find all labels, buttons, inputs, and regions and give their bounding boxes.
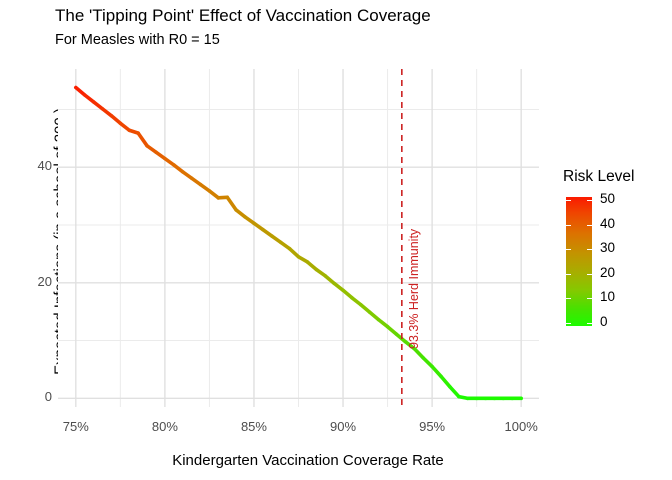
legend: Risk Level 01020304050 — [560, 168, 672, 338]
legend-colorbar — [566, 197, 592, 326]
legend-tick-label: 0 — [600, 314, 608, 329]
legend-tick-mark — [566, 200, 571, 201]
x-tick-label: 80% — [135, 419, 195, 434]
herd-immunity-label: 93.3% Herd Immunity — [407, 229, 421, 349]
x-tick-label: 100% — [491, 419, 551, 434]
y-tick-label: 0 — [12, 389, 52, 404]
chart-subtitle: For Measles with R0 = 15 — [55, 32, 220, 48]
legend-tick-mark — [587, 200, 592, 201]
legend-tick-mark — [587, 298, 592, 299]
x-tick-label: 75% — [46, 419, 106, 434]
legend-title: Risk Level — [563, 168, 635, 186]
legend-tick-label: 10 — [600, 289, 615, 304]
chart-title: The 'Tipping Point' Effect of Vaccinatio… — [55, 6, 431, 26]
chart-root: The 'Tipping Point' Effect of Vaccinatio… — [0, 0, 672, 480]
legend-tick-mark — [587, 249, 592, 250]
legend-tick-label: 20 — [600, 265, 615, 280]
legend-tick-mark — [587, 323, 592, 324]
legend-tick-mark — [566, 323, 571, 324]
minor-gridlines — [58, 69, 539, 407]
legend-tick-label: 30 — [600, 240, 615, 255]
x-tick-label: 90% — [313, 419, 373, 434]
legend-tick-mark — [566, 249, 571, 250]
legend-tick-mark — [587, 225, 592, 226]
legend-tick-mark — [566, 298, 571, 299]
y-tick-label: 20 — [12, 274, 52, 289]
legend-tick-label: 50 — [600, 191, 615, 206]
y-tick-label: 40 — [12, 158, 52, 173]
legend-tick-label: 40 — [600, 216, 615, 231]
x-axis-title: Kindergarten Vaccination Coverage Rate — [78, 452, 538, 469]
legend-tick-mark — [587, 274, 592, 275]
plot-panel: 93.3% Herd Immunity — [58, 69, 539, 407]
legend-tick-mark — [566, 225, 571, 226]
plot-svg — [58, 69, 539, 407]
x-tick-label: 85% — [224, 419, 284, 434]
legend-tick-mark — [566, 274, 571, 275]
x-tick-label: 95% — [402, 419, 462, 434]
